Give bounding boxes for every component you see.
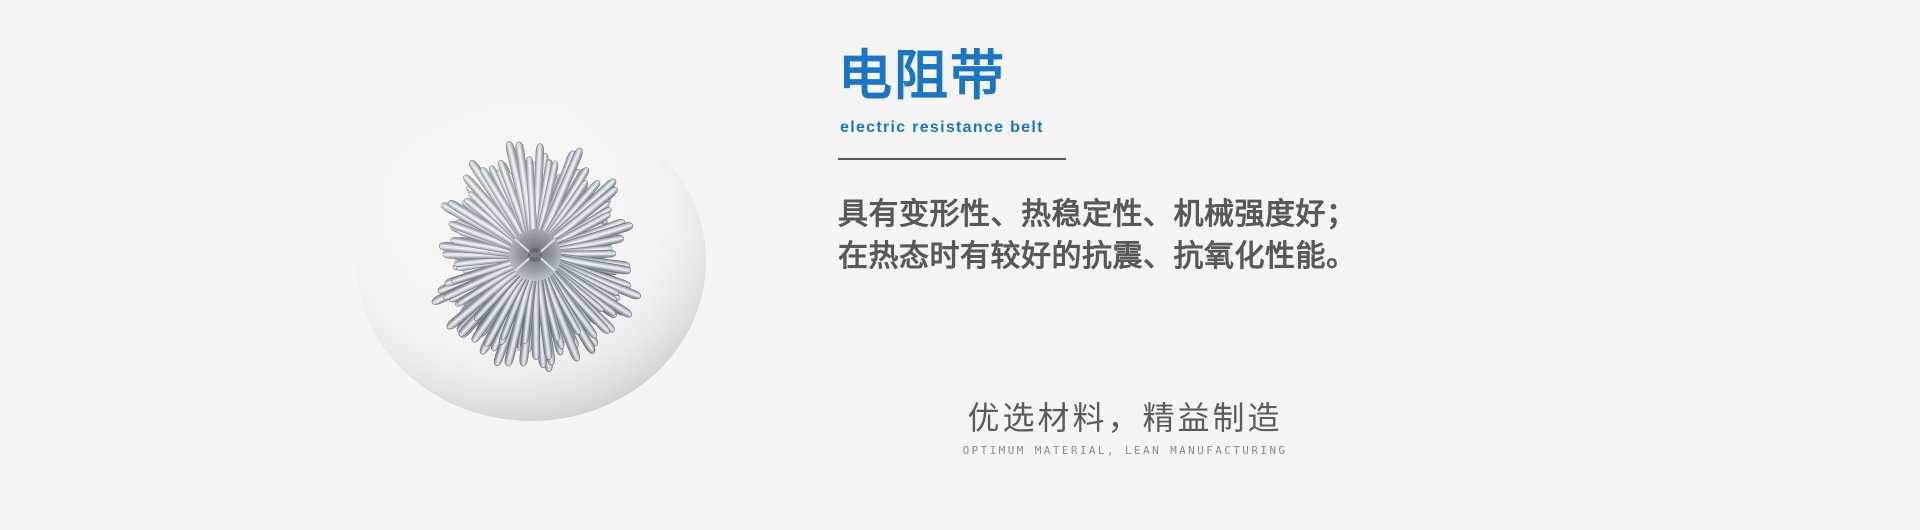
description-line-1: 具有变形性、热稳定性、机械强度好； — [838, 194, 1538, 237]
title-divider — [838, 158, 1066, 160]
description-line-2: 在热态时有较好的抗震、抗氧化性能。 — [838, 236, 1538, 279]
banner-content: 电阻带 electric resistance belt 具有变形性、热稳定性、… — [838, 48, 1538, 279]
product-banner: 电阻带 electric resistance belt 具有变形性、热稳定性、… — [0, 0, 1920, 530]
product-description: 具有变形性、热稳定性、机械强度好； 在热态时有较好的抗震、抗氧化性能。 — [838, 194, 1538, 279]
page-title: 电阻带 — [838, 48, 1538, 105]
slogan-chinese: 优选材料，精益制造 — [955, 400, 1295, 437]
page-subtitle-english: electric resistance belt — [840, 119, 1538, 137]
product-image — [330, 95, 750, 445]
slogan-english: OPTIMUM MATERIAL, LEAN MANUFACTURING — [955, 444, 1295, 457]
slogan-block: 优选材料，精益制造 OPTIMUM MATERIAL, LEAN MANUFAC… — [955, 400, 1295, 457]
